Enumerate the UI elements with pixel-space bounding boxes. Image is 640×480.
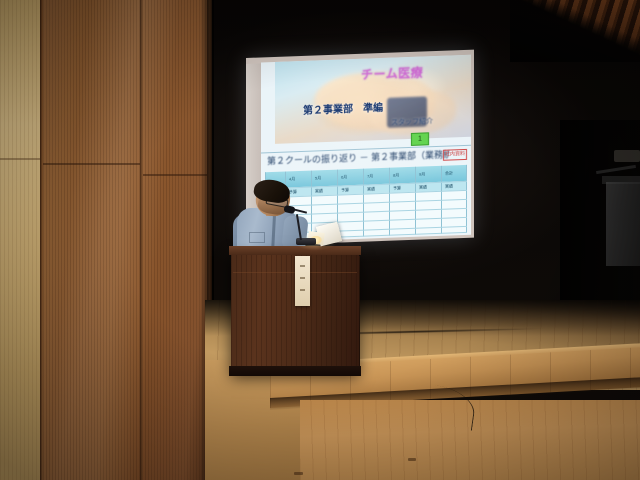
- ceiling-shadow-overlay: [510, 0, 640, 62]
- shirt-pocket: [249, 232, 265, 243]
- light-wood-wall-panel: [0, 0, 42, 480]
- dark-equipment-panel: [606, 182, 640, 266]
- lectern-base: [229, 366, 361, 376]
- wall-panel-seam: [43, 163, 140, 165]
- vertical-paper-sign: [295, 256, 310, 306]
- right-equipment-box: [614, 150, 640, 162]
- wall-panel-groove: [40, 0, 43, 480]
- wall-panel-groove: [140, 0, 143, 480]
- wall-panel-seam: [143, 174, 207, 176]
- wall-panel-seam: [0, 158, 42, 160]
- wall-light-reflection: [43, 0, 209, 480]
- lecture-hall-photo: チーム医療 第２事業部 準編 スタッフ紹介 1 第２クールの振り返り － 第２事…: [0, 0, 640, 480]
